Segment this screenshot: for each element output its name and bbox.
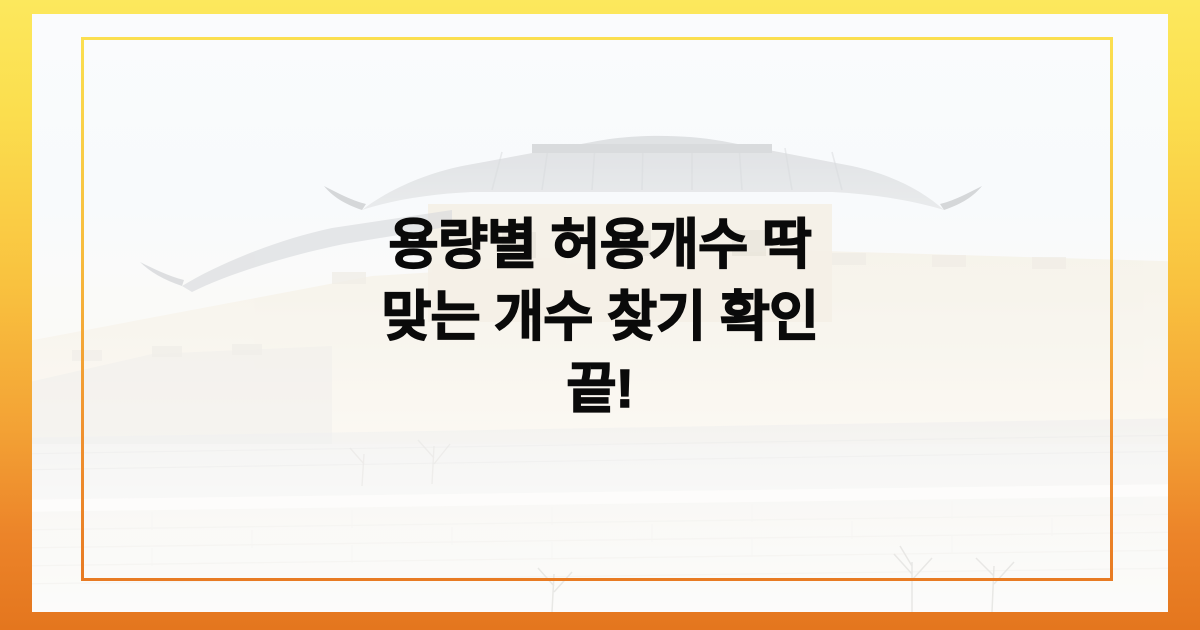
photo-panel: 용량별 허용개수 딱 맞는 개수 찾기 확인 끝! [32, 14, 1168, 612]
headline-text: 용량별 허용개수 딱 맞는 개수 찾기 확인 끝! [32, 210, 1168, 425]
banner-canvas: 용량별 허용개수 딱 맞는 개수 찾기 확인 끝! [0, 0, 1200, 630]
